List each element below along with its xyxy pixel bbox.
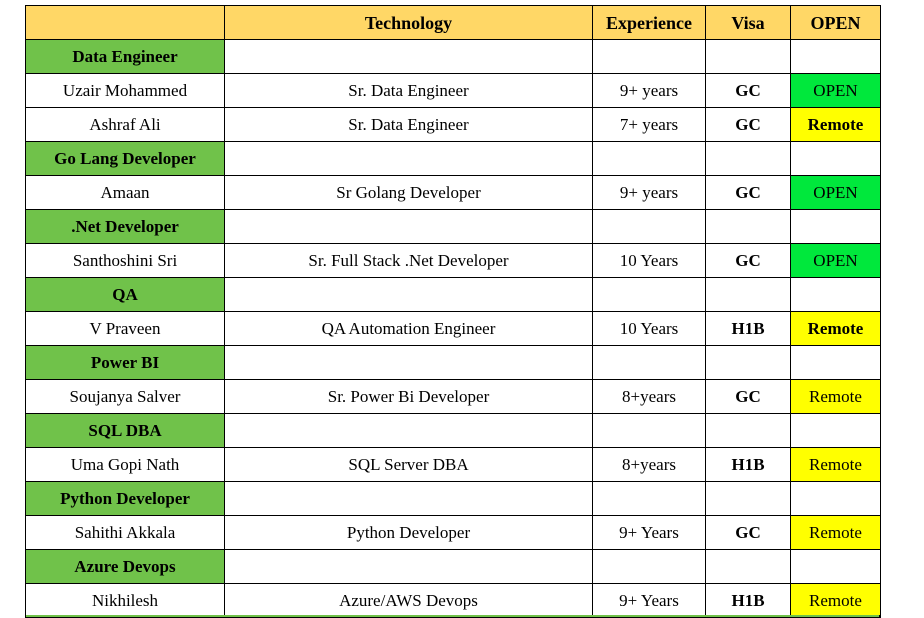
technology-cell[interactable]: SQL Server DBA (225, 448, 593, 482)
experience-cell[interactable]: 10 Years (593, 244, 706, 278)
empty-cell-technology[interactable] (225, 210, 593, 244)
candidate-name-cell[interactable]: Uma Gopi Nath (26, 448, 225, 482)
experience-cell[interactable]: 9+ years (593, 176, 706, 210)
status-badge[interactable]: Remote (791, 584, 881, 618)
technology-cell[interactable]: Sr. Data Engineer (225, 108, 593, 142)
table-row: Santhoshini SriSr. Full Stack .Net Devel… (26, 244, 881, 278)
empty-cell-status[interactable] (791, 210, 881, 244)
technology-cell[interactable]: Python Developer (225, 516, 593, 550)
candidate-name-cell[interactable]: Uzair Mohammed (26, 74, 225, 108)
category-label[interactable]: SQL DBA (26, 414, 225, 448)
empty-cell-experience[interactable] (593, 482, 706, 516)
technology-cell[interactable]: Sr. Power Bi Developer (225, 380, 593, 414)
table-row: AmaanSr Golang Developer9+ yearsGCOPEN (26, 176, 881, 210)
visa-cell[interactable]: GC (706, 516, 791, 550)
empty-cell-experience[interactable] (593, 414, 706, 448)
table-body: Data EngineerUzair MohammedSr. Data Engi… (26, 40, 881, 618)
empty-cell-experience[interactable] (593, 346, 706, 380)
category-label[interactable]: Power BI (26, 346, 225, 380)
empty-cell-visa[interactable] (706, 414, 791, 448)
candidate-name-cell[interactable]: Santhoshini Sri (26, 244, 225, 278)
empty-cell-status[interactable] (791, 414, 881, 448)
visa-cell[interactable]: GC (706, 244, 791, 278)
visa-cell[interactable]: H1B (706, 312, 791, 346)
technology-cell[interactable]: Sr Golang Developer (225, 176, 593, 210)
candidate-name-cell[interactable]: Amaan (26, 176, 225, 210)
column-header-name (26, 6, 225, 40)
empty-cell-experience[interactable] (593, 142, 706, 176)
category-label[interactable]: Data Engineer (26, 40, 225, 74)
spreadsheet-canvas: Technology Experience Visa OPEN Data Eng… (0, 0, 924, 617)
candidate-name-cell[interactable]: Soujanya Salver (26, 380, 225, 414)
empty-cell-visa[interactable] (706, 346, 791, 380)
candidates-table: Technology Experience Visa OPEN Data Eng… (25, 5, 881, 618)
empty-cell-visa[interactable] (706, 210, 791, 244)
candidate-name-cell[interactable]: Ashraf Ali (26, 108, 225, 142)
candidate-name-cell[interactable]: Nikhilesh (26, 584, 225, 618)
header-row: Technology Experience Visa OPEN (26, 6, 881, 40)
visa-cell[interactable]: GC (706, 380, 791, 414)
empty-cell-visa[interactable] (706, 482, 791, 516)
visa-cell[interactable]: H1B (706, 584, 791, 618)
empty-cell-status[interactable] (791, 550, 881, 584)
experience-cell[interactable]: 9+ Years (593, 584, 706, 618)
empty-cell-experience[interactable] (593, 40, 706, 74)
category-row: SQL DBA (26, 414, 881, 448)
category-label[interactable]: .Net Developer (26, 210, 225, 244)
empty-cell-technology[interactable] (225, 550, 593, 584)
visa-cell[interactable]: GC (706, 176, 791, 210)
empty-cell-visa[interactable] (706, 278, 791, 312)
technology-cell[interactable]: QA Automation Engineer (225, 312, 593, 346)
empty-cell-technology[interactable] (225, 482, 593, 516)
table-row: Uzair MohammedSr. Data Engineer9+ yearsG… (26, 74, 881, 108)
empty-cell-status[interactable] (791, 142, 881, 176)
candidate-name-cell[interactable]: V Praveen (26, 312, 225, 346)
table-row: Ashraf AliSr. Data Engineer7+ yearsGCRem… (26, 108, 881, 142)
visa-cell[interactable]: H1B (706, 448, 791, 482)
empty-cell-technology[interactable] (225, 346, 593, 380)
category-row: Azure Devops (26, 550, 881, 584)
empty-cell-visa[interactable] (706, 142, 791, 176)
experience-cell[interactable]: 9+ Years (593, 516, 706, 550)
experience-cell[interactable]: 10 Years (593, 312, 706, 346)
status-badge[interactable]: Remote (791, 108, 881, 142)
table-header: Technology Experience Visa OPEN (26, 6, 881, 40)
visa-cell[interactable]: GC (706, 108, 791, 142)
empty-cell-visa[interactable] (706, 40, 791, 74)
table-row: V PraveenQA Automation Engineer10 YearsH… (26, 312, 881, 346)
table-row: Uma Gopi NathSQL Server DBA8+yearsH1BRem… (26, 448, 881, 482)
empty-cell-experience[interactable] (593, 550, 706, 584)
category-row: Data Engineer (26, 40, 881, 74)
category-label[interactable]: QA (26, 278, 225, 312)
empty-cell-technology[interactable] (225, 278, 593, 312)
column-header-technology: Technology (225, 6, 593, 40)
status-badge[interactable]: OPEN (791, 244, 881, 278)
status-badge[interactable]: Remote (791, 448, 881, 482)
candidate-name-cell[interactable]: Sahithi Akkala (26, 516, 225, 550)
empty-cell-status[interactable] (791, 346, 881, 380)
empty-cell-status[interactable] (791, 482, 881, 516)
experience-cell[interactable]: 9+ years (593, 74, 706, 108)
empty-cell-technology[interactable] (225, 142, 593, 176)
category-row: Power BI (26, 346, 881, 380)
empty-cell-technology[interactable] (225, 414, 593, 448)
table-row: Soujanya SalverSr. Power Bi Developer8+y… (26, 380, 881, 414)
status-badge[interactable]: Remote (791, 516, 881, 550)
category-label[interactable]: Python Developer (26, 482, 225, 516)
column-header-experience: Experience (593, 6, 706, 40)
technology-cell[interactable]: Sr. Full Stack .Net Developer (225, 244, 593, 278)
category-row: .Net Developer (26, 210, 881, 244)
category-row: Python Developer (26, 482, 881, 516)
category-label[interactable]: Azure Devops (26, 550, 225, 584)
status-badge[interactable]: Remote (791, 312, 881, 346)
empty-cell-visa[interactable] (706, 550, 791, 584)
experience-cell[interactable]: 7+ years (593, 108, 706, 142)
category-row: QA (26, 278, 881, 312)
category-row: Go Lang Developer (26, 142, 881, 176)
technology-cell[interactable]: Sr. Data Engineer (225, 74, 593, 108)
status-badge[interactable]: OPEN (791, 74, 881, 108)
status-badge[interactable]: Remote (791, 380, 881, 414)
visa-cell[interactable]: GC (706, 74, 791, 108)
column-header-visa: Visa (706, 6, 791, 40)
technology-cell[interactable]: Azure/AWS Devops (225, 584, 593, 618)
table-row: Sahithi AkkalaPython Developer9+ YearsGC… (26, 516, 881, 550)
empty-cell-status[interactable] (791, 278, 881, 312)
empty-cell-experience[interactable] (593, 210, 706, 244)
table-row: NikhileshAzure/AWS Devops9+ YearsH1BRemo… (26, 584, 881, 618)
empty-cell-experience[interactable] (593, 278, 706, 312)
empty-cell-status[interactable] (791, 40, 881, 74)
column-header-open: OPEN (791, 6, 881, 40)
experience-cell[interactable]: 8+years (593, 448, 706, 482)
experience-cell[interactable]: 8+years (593, 380, 706, 414)
status-badge[interactable]: OPEN (791, 176, 881, 210)
empty-cell-technology[interactable] (225, 40, 593, 74)
category-label[interactable]: Go Lang Developer (26, 142, 225, 176)
